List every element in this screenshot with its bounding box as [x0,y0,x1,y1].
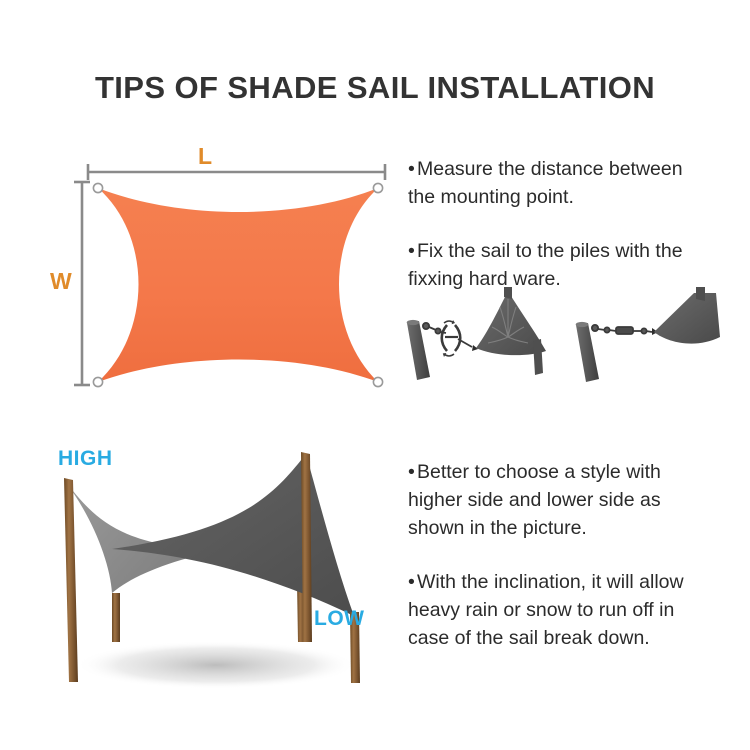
chain-assembly [592,325,652,334]
infographic-page: TIPS OF SHADE SAIL INSTALLATION [0,0,750,750]
tip-measure-line-1: •Measure the distance between [408,155,750,183]
high-label: HIGH [58,448,113,469]
tip-style-line-1: •Better to choose a style with [408,458,750,486]
tip-style-line-2: higher side and lower side as [408,486,750,514]
bullet-icon: • [408,237,417,265]
sail-post-top-left [504,287,512,299]
tip-text: Fix the sail to the piles with the [417,240,683,262]
sail-triangle-right [654,293,720,344]
width-dimension-line [74,182,90,385]
bullet-icon: • [408,458,417,486]
turnbuckle-assembly [423,320,472,357]
tip-inclination: •With the inclination, it will allow hea… [408,568,750,652]
pole-back-left [112,593,120,642]
width-label: W [50,270,72,293]
inclined-sails-diagram [20,430,410,705]
dimension-diagram-svg [30,140,400,405]
tip-inclination-line-1: •With the inclination, it will allow [408,568,750,596]
length-dimension-line [88,164,385,180]
tip-fix-line-1: •Fix the sail to the piles with the [408,237,750,265]
tips-list-bottom: •Better to choose a style with higher si… [408,458,750,652]
dimension-diagram [30,140,400,405]
tip-text: Better to choose a style with [417,461,661,483]
tip-text: Measure the distance between [417,158,683,180]
tip-inclination-line-3: case of the sail break down. [408,624,750,652]
hardware-item-turnbuckle [407,287,546,380]
shade-sail-dark [112,454,354,616]
hardware-diagram [400,285,750,385]
sail-post-right [696,287,705,301]
tip-measure-line-2: the mounting point. [408,183,750,211]
ground-shadow [76,641,356,689]
bullet-icon: • [408,155,417,183]
tips-list-top: •Measure the distance between the mounti… [408,155,750,293]
tip-measure: •Measure the distance between the mounti… [408,155,750,211]
length-label: L [198,145,212,168]
hardware-item-shackle-chain [576,287,720,382]
bullet-icon: • [408,568,417,596]
orange-shade-sail [98,188,378,382]
page-title: TIPS OF SHADE SAIL INSTALLATION [0,70,750,106]
hardware-diagram-svg [400,285,750,385]
inclined-sails-svg [20,430,410,705]
tip-style: •Better to choose a style with higher si… [408,458,750,542]
low-label: LOW [314,608,364,629]
pole-high-left [64,478,78,682]
tip-style-line-3: shown in the picture. [408,514,750,542]
tip-text: With the inclination, it will allow [417,571,684,593]
tip-inclination-line-2: heavy rain or snow to run off in [408,596,750,624]
